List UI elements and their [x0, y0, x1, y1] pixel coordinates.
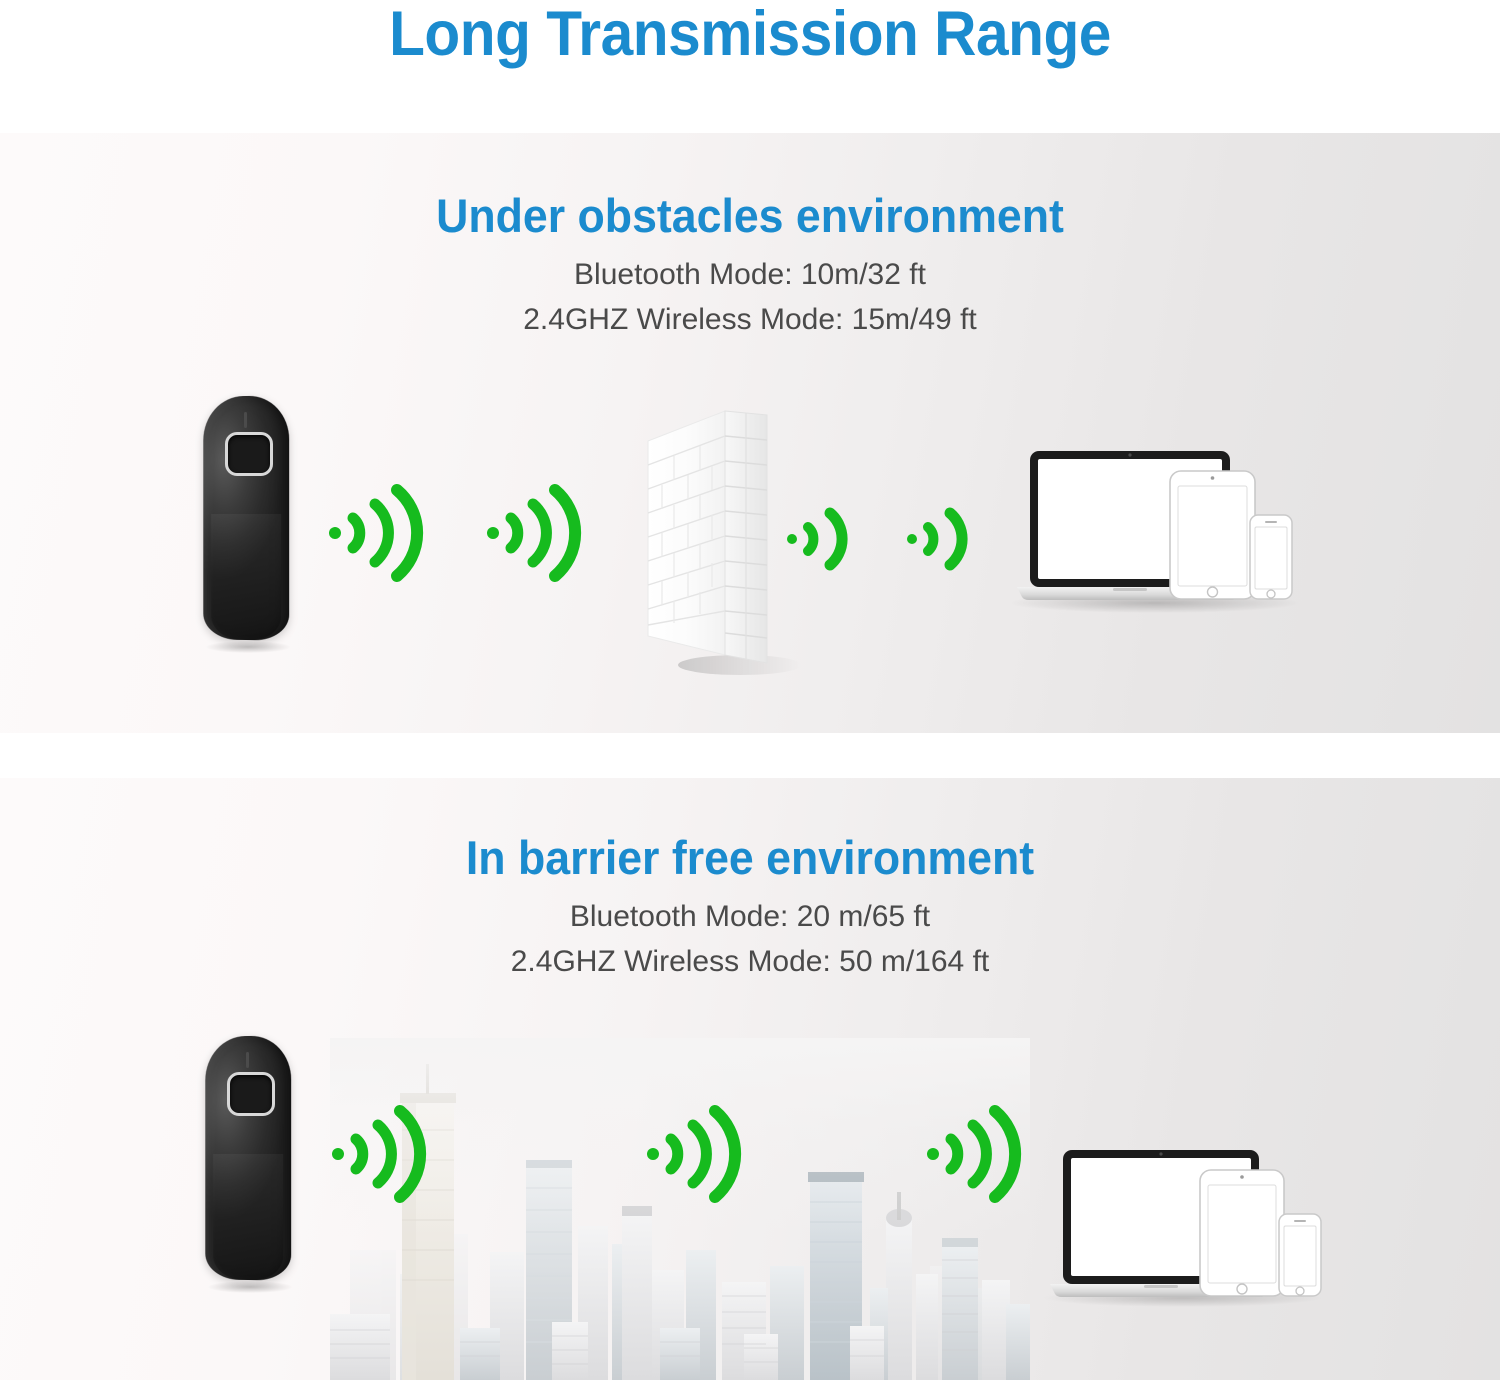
signal-wave-icon: [329, 527, 341, 539]
tablet-icon: [1170, 471, 1255, 599]
scanner-shadow: [206, 641, 290, 653]
city-skyline-backdrop: [330, 1038, 1030, 1380]
spec-bluetooth-obstacles: Bluetooth Mode: 10m/32 ft: [0, 258, 1500, 292]
receiver-devices-obstacles: [1005, 443, 1315, 623]
signal-wave-group-1: [330, 1108, 430, 1200]
section-heading-barrier-free: In barrier free environment: [38, 830, 1463, 885]
section-barrier-free: In barrier free environment Bluetooth Mo…: [0, 778, 1500, 1380]
signal-wave-group-4: [905, 508, 983, 570]
signal-wave-icon: [907, 534, 917, 544]
brick-wall-obstacle: [612, 393, 812, 683]
spec-bluetooth-barrier-free: Bluetooth Mode: 20 m/65 ft: [0, 900, 1500, 934]
signal-wave-icon: [332, 1148, 344, 1160]
smartphone-icon: [1279, 1214, 1321, 1296]
scan-trigger-button[interactable]: [227, 1072, 275, 1116]
signal-wave-icon: [927, 1148, 939, 1160]
page-title: Long Transmission Range: [53, 0, 1448, 70]
led-indicator: [246, 1052, 249, 1068]
receiver-devices-barrier-free: [1038, 1140, 1338, 1315]
led-indicator: [244, 412, 247, 428]
section-heading-obstacles: Under obstacles environment: [38, 188, 1463, 243]
scan-trigger-button[interactable]: [225, 432, 273, 476]
scanner-shadow: [208, 1281, 292, 1293]
title-bar: Long Transmission Range: [0, 0, 1500, 133]
signal-wave-group-3: [785, 508, 863, 570]
city-skyline-icon: [330, 1038, 1030, 1380]
signal-wave-icon: [787, 534, 797, 544]
section-under-obstacles: Under obstacles environment Bluetooth Mo…: [0, 133, 1500, 733]
signal-wave-group-3: [925, 1108, 1025, 1200]
barcode-scanner-barrier-free: [205, 1036, 291, 1284]
smartphone-icon: [1250, 515, 1292, 599]
brick-wall-icon: [612, 393, 812, 683]
signal-wave-group-2: [645, 1108, 745, 1200]
barcode-scanner-obstacles: [203, 396, 289, 644]
signal-wave-group-1: [327, 488, 427, 578]
signal-wave-group-2: [485, 488, 585, 578]
signal-wave-icon: [647, 1148, 659, 1160]
spec-wireless-barrier-free: 2.4GHZ Wireless Mode: 50 m/164 ft: [0, 945, 1500, 979]
tablet-icon: [1200, 1170, 1284, 1296]
spec-wireless-obstacles: 2.4GHZ Wireless Mode: 15m/49 ft: [0, 303, 1500, 337]
signal-wave-icon: [487, 527, 499, 539]
